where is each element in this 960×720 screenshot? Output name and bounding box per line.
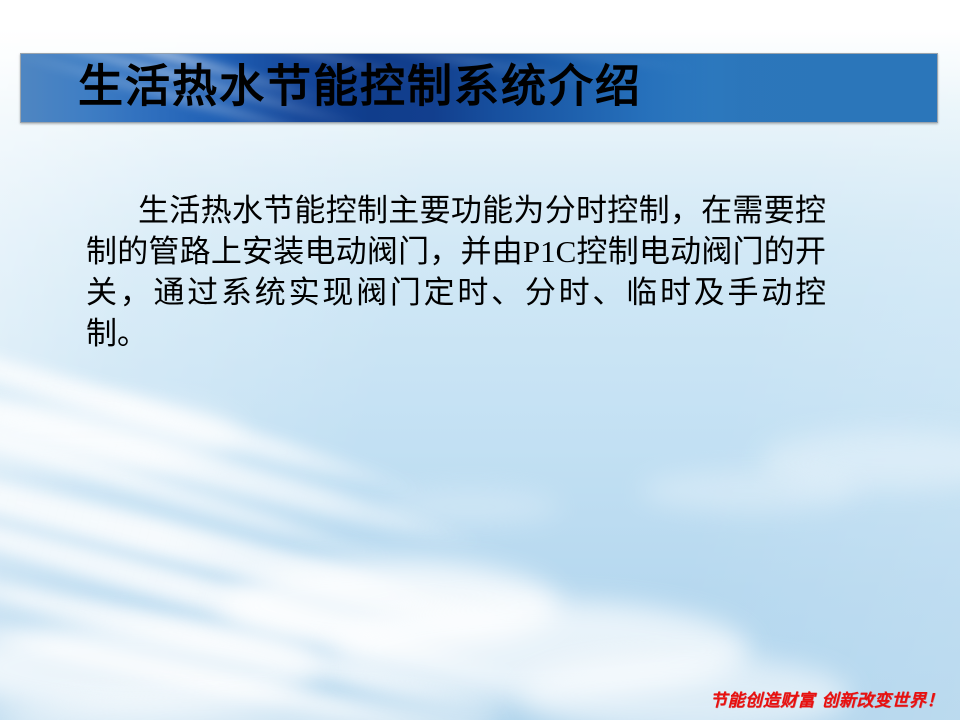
footer-slogan: 节能创造财富 创新改变世界！ <box>710 686 944 711</box>
title-banner: 生活热水节能控制系统介绍 <box>20 53 938 123</box>
page-title: 生活热水节能控制系统介绍 <box>78 65 642 110</box>
banner-right-fill <box>637 54 937 122</box>
body-paragraph: 生活热水节能控制主要功能为分时控制，在需要控制的管路上安装电动阀门，并由P1C控… <box>86 190 826 354</box>
slide-canvas: 生活热水节能控制系统介绍 生活热水节能控制主要功能为分时控制，在需要控制的管路上… <box>0 0 960 720</box>
